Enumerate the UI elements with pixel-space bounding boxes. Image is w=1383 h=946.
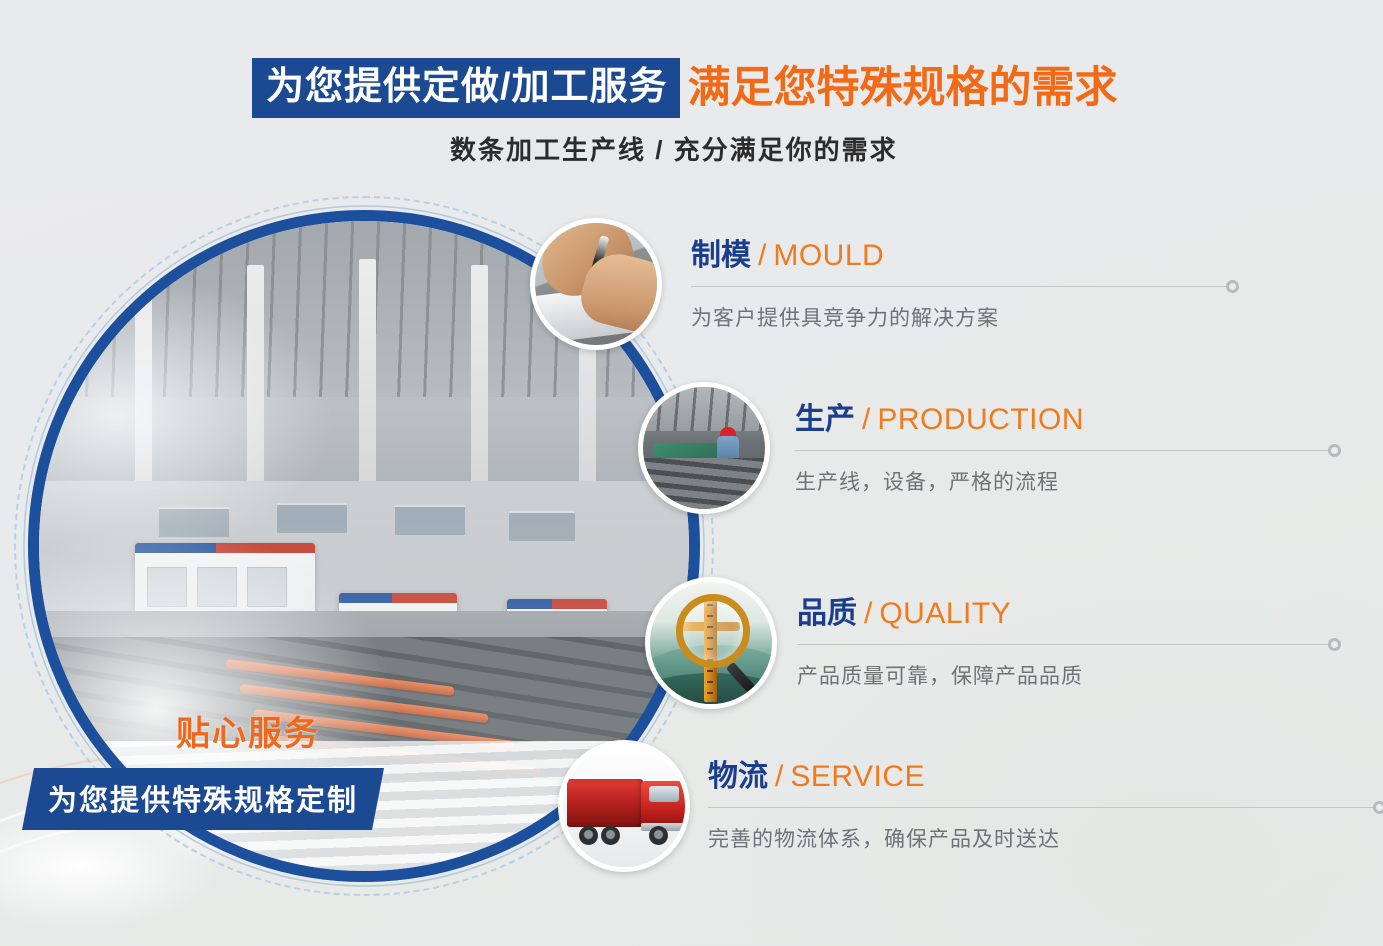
feature-title-en: QUALITY xyxy=(879,597,1011,630)
feature-description-quality: 产品质量可靠，保障产品品质 xyxy=(797,660,1328,690)
rule-endpoint-dot-icon xyxy=(1328,444,1341,457)
rule-endpoint-dot-icon xyxy=(1328,638,1341,651)
feature-title-service: 物流/SERVICE xyxy=(708,760,1373,793)
rule-endpoint-dot-icon xyxy=(1373,801,1383,814)
logistics-truck-icon[interactable] xyxy=(558,740,690,872)
feature-description-production: 生产线，设备，严格的流程 xyxy=(795,466,1328,496)
feature-title-en: SERVICE xyxy=(790,760,925,793)
feature-title-en: MOULD xyxy=(773,239,884,272)
feature-title-cn: 生产 xyxy=(795,403,855,436)
feature-rule-service xyxy=(708,807,1373,808)
feature-title-production: 生产/PRODUCTION xyxy=(795,403,1328,436)
feature-title-quality: 品质/QUALITY xyxy=(797,597,1328,630)
feature-description-mould: 为客户提供具竞争力的解决方案 xyxy=(691,302,1226,332)
feature-title-separator: / xyxy=(864,597,872,630)
feature-rule-production xyxy=(795,450,1328,451)
mould-hand-drawing-icon[interactable] xyxy=(530,218,662,350)
feature-rule-mould xyxy=(691,286,1226,287)
feature-title-separator: / xyxy=(758,239,766,272)
feature-title-cn: 制模 xyxy=(691,239,751,272)
production-worker-icon[interactable] xyxy=(638,382,770,514)
feature-title-cn: 物流 xyxy=(708,760,768,793)
feature-rule-quality xyxy=(797,644,1328,645)
feature-title-separator: / xyxy=(862,403,870,436)
feature-title-cn: 品质 xyxy=(797,597,857,630)
feature-list: 制模/MOULD 为客户提供具竞争力的解决方案 xyxy=(0,0,1383,946)
feature-description-service: 完善的物流体系，确保产品及时送达 xyxy=(708,823,1373,853)
rule-endpoint-dot-icon xyxy=(1226,280,1239,293)
quality-magnifier-icon[interactable] xyxy=(645,577,777,709)
feature-title-separator: / xyxy=(775,760,783,793)
feature-title-en: PRODUCTION xyxy=(877,403,1084,436)
feature-title-mould: 制模/MOULD xyxy=(691,239,1226,272)
infographic-canvas: 为您提供定做/加工服务 满足您特殊规格的需求 数条加工生产线 / 充分满足你的需… xyxy=(0,0,1383,946)
